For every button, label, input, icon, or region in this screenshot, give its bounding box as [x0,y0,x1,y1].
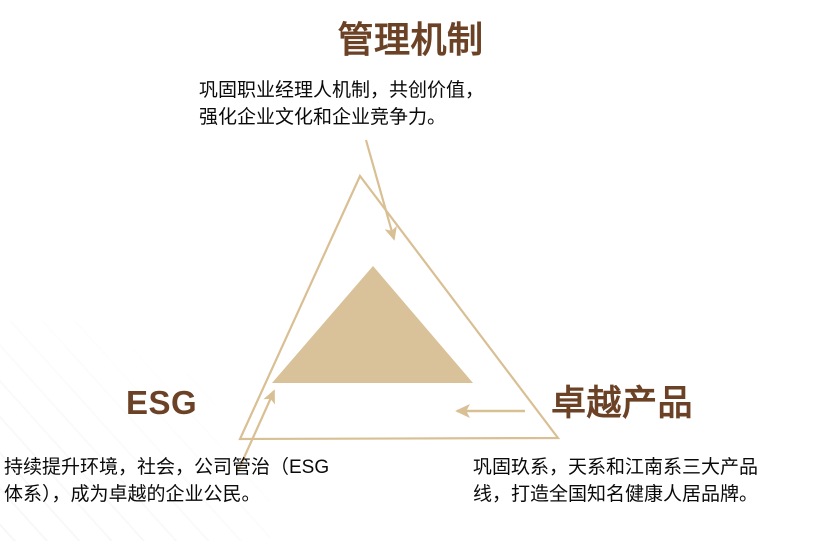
arrow-top-to-right [366,140,394,239]
slide-canvas: 管理机制 巩固职业经理人机制，共创价值， 强化企业文化和企业竞争力。 ESG 持… [0,0,821,541]
inner-triangle-fill [272,266,473,383]
outer-triangle-outline [240,176,558,439]
node-heading-top: 管理机制 [0,22,821,58]
node-heading-right: 卓越产品 [551,386,693,421]
node-body-top: 巩固职业经理人机制，共创价值， 强化企业文化和企业竞争力。 [199,78,559,132]
node-body-left: 持续提升环境，社会，公司管治（ESG 体系），成为卓越的企业公民。 [4,455,404,509]
node-heading-left: ESG [126,386,197,419]
node-body-right: 巩固玖系，天系和江南系三大产品 线，打造全国知名健康人居品牌。 [473,455,821,509]
